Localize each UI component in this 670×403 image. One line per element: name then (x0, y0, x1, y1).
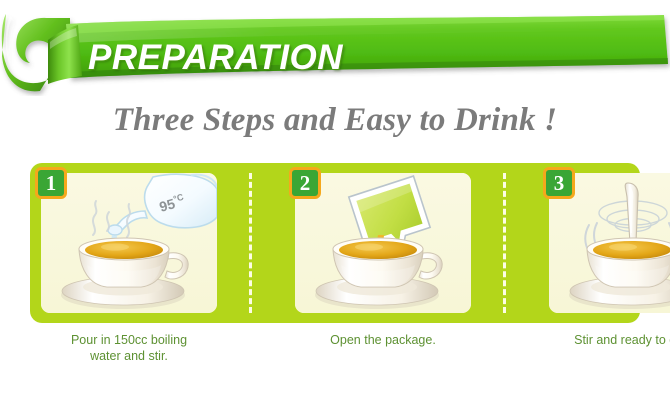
step-caption-3: Stir and ready to drink. (549, 332, 670, 348)
preparation-banner: PREPARATION (0, 6, 670, 96)
step-captions: Pour in 150cc boiling water and stir. Op… (30, 332, 640, 388)
step-panel-1[interactable]: 95°C 1 (41, 173, 217, 313)
temperature-unit: °C (172, 192, 184, 204)
step-caption-2-line1: Open the package. (295, 332, 471, 348)
step-caption-1-line2: water and stir. (41, 348, 217, 364)
step-caption-3-line1: Stir and ready to drink. (549, 332, 670, 348)
step-divider-2 (503, 173, 506, 313)
step-caption-1-line1: Pour in 150cc boiling (41, 332, 217, 348)
step1-illustration (41, 173, 217, 313)
teacup-icon (333, 238, 442, 287)
step-badge-3: 3 (543, 167, 575, 199)
step-panel-2-art (295, 173, 471, 313)
step-panel-3[interactable]: OK! 3 (549, 173, 670, 313)
teacup-icon (587, 238, 670, 287)
steps-strip: 95°C 1 (30, 163, 640, 323)
step-caption-2: Open the package. (295, 332, 471, 348)
step2-illustration (295, 173, 471, 313)
teacup-icon (79, 238, 188, 287)
step-panel-2[interactable]: 2 (295, 173, 471, 313)
step-badge-2: 2 (289, 167, 321, 199)
banner-title: PREPARATION (88, 38, 343, 78)
step-panel-1-art: 95°C (41, 173, 217, 313)
step-badge-1: 1 (35, 167, 67, 199)
page-headline: Three Steps and Easy to Drink ! (0, 102, 670, 139)
step-caption-1: Pour in 150cc boiling water and stir. (41, 332, 217, 364)
step-divider-1 (249, 173, 252, 313)
